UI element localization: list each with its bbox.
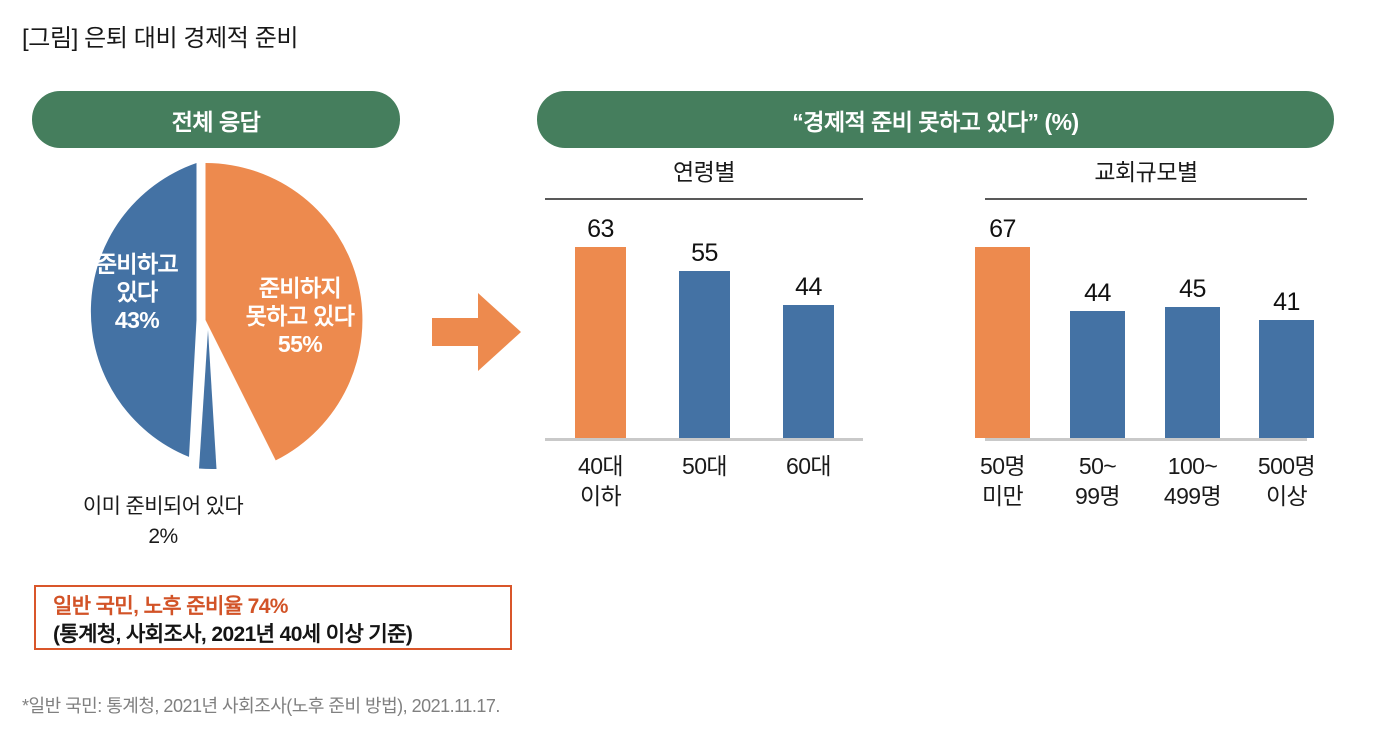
bar-value: 44: [1084, 281, 1111, 306]
callout-box-general-public: 일반 국민, 노후 준비율 74% (통계청, 사회조사, 2021년 40세 …: [34, 585, 512, 650]
flow-arrow-icon: [432, 290, 524, 374]
panel-title-church-size: 교회규모별: [985, 160, 1307, 185]
pie-label-already-prepared: 이미 준비되어 있다 2%: [18, 492, 308, 553]
callout-headline: 일반 국민, 노후 준비율 74%: [53, 593, 510, 621]
bar-column: 41: [1259, 290, 1314, 438]
arrow-right-shape: [432, 293, 521, 371]
pie-slice-not-prepared: [206, 163, 363, 460]
panel-rule-church-size: [985, 198, 1307, 200]
bar-rect[interactable]: [783, 305, 834, 438]
tick-label: 60대: [748, 452, 869, 482]
plot-area-church-size: 67 44 45 41: [985, 205, 1307, 441]
bar-rect[interactable]: [975, 247, 1030, 438]
tick-labels-age: 40대 이하 50대 60대: [545, 452, 863, 538]
bar-column: 55: [679, 241, 730, 438]
page-title: [그림] 은퇴 대비 경제적 준비: [22, 18, 298, 53]
header-pill-unprepared-percent: “경제적 준비 못하고 있다” (%): [537, 91, 1334, 148]
bar-value: 55: [691, 241, 718, 266]
callout-source: (통계청, 사회조사, 2021년 40세 이상 기준): [53, 621, 510, 649]
axis-baseline-church-size: [985, 438, 1307, 441]
pie-slice-already-prepared: [199, 330, 217, 469]
bar-column: 44: [783, 275, 834, 438]
panel-title-age: 연령별: [545, 160, 863, 185]
bar-column: 67: [975, 217, 1030, 438]
axis-baseline-age: [545, 438, 863, 441]
bar-chart-by-age: 연령별 63 55 44 40대 이하 50대 60대: [545, 160, 863, 538]
bar-column: 44: [1070, 281, 1125, 438]
pie-chart: 준비하고 있다 43% 준비하지 못하고 있다 55%: [38, 158, 368, 488]
plot-area-age: 63 55 44: [545, 205, 863, 441]
bar-value: 44: [795, 275, 822, 300]
tick-label: 50대: [644, 452, 765, 482]
bar-rect[interactable]: [1165, 307, 1220, 438]
header-pill-overall-response: 전체 응답: [32, 91, 400, 148]
panel-rule-age: [545, 198, 863, 200]
bar-rect[interactable]: [575, 247, 626, 438]
tick-label: 500명 이상: [1227, 452, 1346, 512]
footnote: *일반 국민: 통계청, 2021년 사회조사(노후 준비 방법), 2021.…: [22, 692, 500, 718]
bar-value: 63: [587, 217, 614, 242]
tick-labels-church-size: 50명 미만 50~ 99명 100~ 499명 500명 이상: [985, 452, 1307, 538]
bar-column: 63: [575, 217, 626, 438]
pie-slice-prepared: [91, 163, 197, 457]
bar-chart-by-church-size: 교회규모별 67 44 45 41 50명 미만 50~ 99명 100~ 49…: [985, 160, 1307, 538]
bar-value: 67: [989, 217, 1016, 242]
bar-rect[interactable]: [1259, 320, 1314, 438]
tick-label: 40대 이하: [540, 452, 661, 512]
bar-rect[interactable]: [1070, 311, 1125, 438]
bar-value: 45: [1179, 277, 1206, 302]
pie-chart-svg: [38, 158, 368, 488]
bar-column: 45: [1165, 277, 1220, 438]
bar-rect[interactable]: [679, 271, 730, 438]
bar-value: 41: [1273, 290, 1300, 315]
